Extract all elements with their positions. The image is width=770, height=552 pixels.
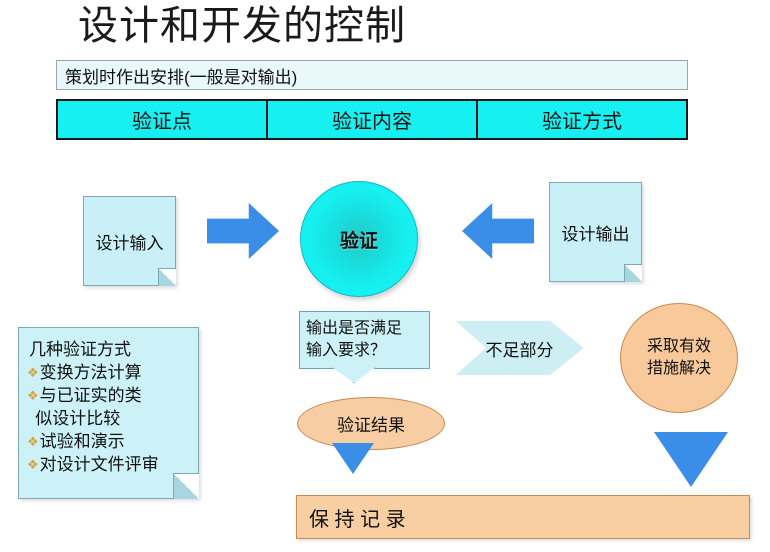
corrective-action-circle: 采取有效 措施解决 (620, 303, 738, 413)
question-line-2: 输入要求？ (306, 340, 386, 362)
list-item: ❖ 试验和演示 (27, 430, 192, 453)
list-item-label: 与已证实的类 (40, 384, 192, 407)
table-header-cell-verification-point: 验证点 (58, 101, 268, 138)
page-title: 设计和开发的控制 (78, 2, 406, 50)
keep-records-bar: 保 持 记 录 (296, 495, 750, 539)
slide-canvas: 设计和开发的控制 策划时作出安排(一般是对输出) 验证点 验证内容 验证方式 设… (0, 0, 770, 552)
verification-table-header: 验证点 验证内容 验证方式 (56, 99, 688, 140)
question-line-1: 输出是否满足 (306, 318, 402, 340)
arrow-down-small-icon (332, 443, 374, 474)
verification-result-label: 验证结果 (337, 411, 405, 436)
table-header-cell-verification-method: 验证方式 (478, 101, 686, 138)
question-callout: 输出是否满足 输入要求？ (299, 311, 430, 369)
arrow-right-icon (207, 203, 279, 259)
page-fold-corner-icon (158, 268, 176, 286)
corrective-action-line-2: 措施解决 (647, 358, 711, 380)
diamond-bullet-icon: ❖ (27, 430, 39, 453)
planning-note-bar: 策划时作出安排(一般是对输出) (56, 60, 688, 90)
callout-tail-icon (332, 367, 376, 383)
keep-records-label: 保 持 记 录 (309, 503, 406, 532)
list-item: ❖ 变换方法计算 (27, 361, 192, 384)
page-fold-corner-icon (173, 473, 199, 499)
gap-chevron-label: 不足部分 (486, 336, 554, 361)
list-item-continuation: 似设计比较 (27, 407, 192, 430)
diamond-bullet-icon: ❖ (27, 453, 39, 476)
list-item: ❖ 对设计文件评审 (27, 453, 192, 476)
list-item: ❖ 与已证实的类 (27, 384, 192, 407)
list-item-label: 似设计比较 (35, 407, 192, 430)
verification-methods-title: 几种验证方式 (27, 338, 192, 361)
corrective-action-line-1: 采取有效 (647, 336, 711, 358)
verification-result-ellipse: 验证结果 (297, 397, 445, 450)
diamond-bullet-icon: ❖ (27, 361, 39, 384)
table-header-cell-verification-content: 验证内容 (268, 101, 478, 138)
arrow-down-large-icon (654, 432, 728, 487)
design-input-document: 设计输入 (83, 196, 176, 286)
design-input-label: 设计输入 (96, 229, 164, 254)
verification-methods-box: 几种验证方式 ❖ 变换方法计算 ❖ 与已证实的类 似设计比较 ❖ 试验和演示 ❖… (18, 327, 199, 499)
verification-circle: 验证 (300, 181, 418, 297)
design-output-document: 设计输出 (549, 182, 642, 282)
page-fold-corner-icon (624, 264, 642, 282)
diamond-bullet-icon: ❖ (27, 384, 39, 407)
design-output-label: 设计输出 (562, 220, 630, 245)
arrow-left-icon (462, 203, 534, 259)
list-item-label: 变换方法计算 (40, 361, 192, 384)
verification-circle-label: 验证 (340, 226, 378, 253)
bullet-spacer (27, 407, 34, 430)
planning-note-text: 策划时作出安排(一般是对输出) (57, 63, 297, 88)
gap-chevron-arrow: 不足部分 (456, 321, 583, 375)
list-item-label: 试验和演示 (40, 430, 192, 453)
verification-methods-list: ❖ 变换方法计算 ❖ 与已证实的类 似设计比较 ❖ 试验和演示 ❖ 对设计文件评… (27, 361, 192, 476)
list-item-label: 对设计文件评审 (40, 453, 192, 476)
